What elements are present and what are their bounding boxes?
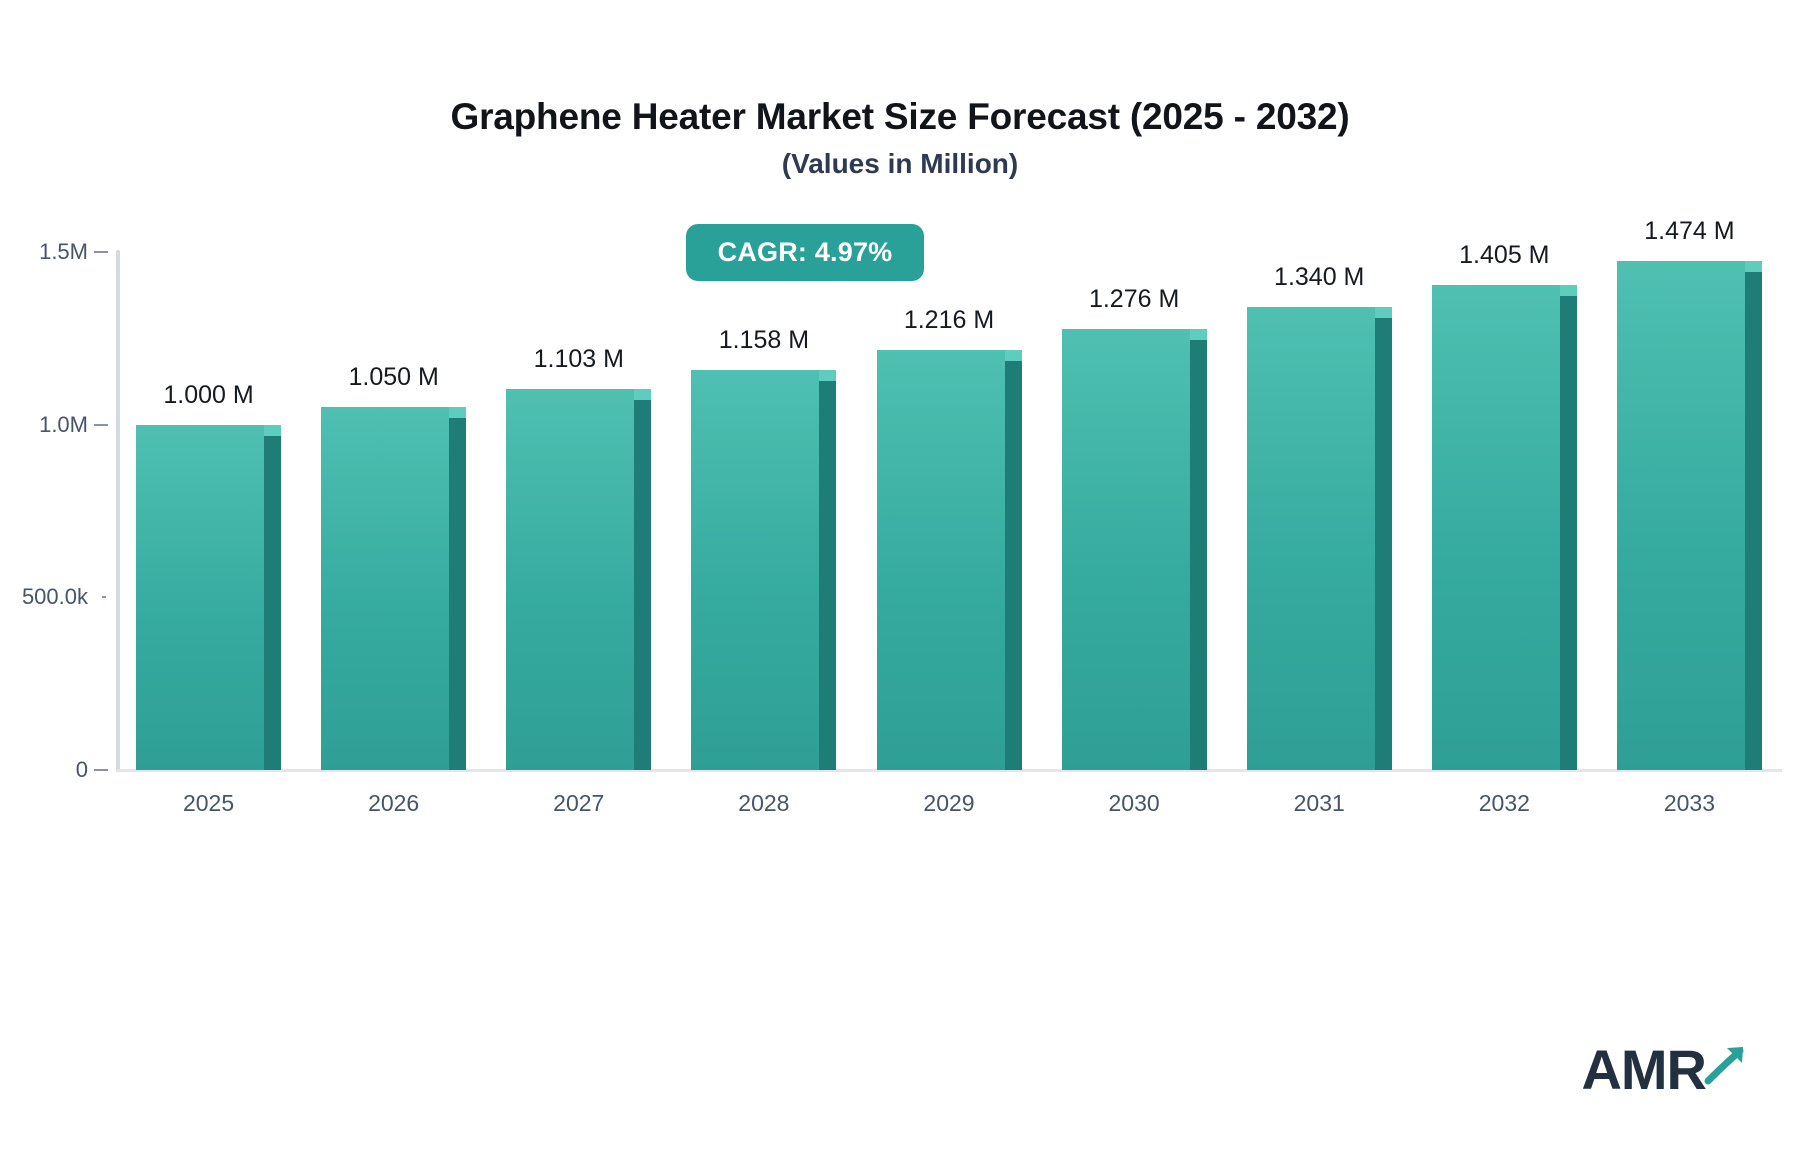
- arrow-up-right-icon: [1702, 1041, 1748, 1092]
- bar-top-face: [1745, 261, 1762, 272]
- bar-front-face: [1247, 307, 1375, 770]
- bar-front-face: [506, 389, 634, 770]
- bar-front-face: [1617, 261, 1745, 770]
- bar-side-face: [1560, 296, 1577, 770]
- x-axis-tick-label: 2030: [1044, 790, 1224, 817]
- bar-top-face: [1375, 307, 1392, 318]
- bar-side-face: [819, 381, 836, 770]
- chart-canvas: Graphene Heater Market Size Forecast (20…: [0, 0, 1800, 1156]
- bar-top-face: [1005, 350, 1022, 361]
- bar-front-face: [136, 425, 264, 770]
- bar-front-face: [1432, 285, 1560, 770]
- bar[interactable]: [1247, 307, 1375, 770]
- y-axis-tick-label: 0: [0, 757, 88, 783]
- bar-side-face: [449, 418, 466, 770]
- bar[interactable]: [321, 407, 449, 770]
- bar-top-face: [1560, 285, 1577, 296]
- bar-front-face: [877, 350, 1005, 770]
- chart-subtitle: (Values in Million): [0, 148, 1800, 180]
- bar-top-face: [449, 407, 466, 418]
- bar-side-face: [1375, 318, 1392, 770]
- x-axis-tick-label: 2031: [1229, 790, 1409, 817]
- bar-top-face: [819, 370, 836, 381]
- y-axis-tick-mark: [94, 769, 108, 771]
- bar[interactable]: [1617, 261, 1745, 770]
- bar-front-face: [691, 370, 819, 770]
- bar[interactable]: [506, 389, 634, 770]
- bar-side-face: [1745, 272, 1762, 770]
- bar[interactable]: [877, 350, 1005, 770]
- bar-side-face: [1005, 361, 1022, 770]
- bar-front-face: [321, 407, 449, 770]
- bar[interactable]: [1432, 285, 1560, 770]
- bar-top-face: [1190, 329, 1207, 340]
- x-axis-tick-label: 2027: [489, 790, 669, 817]
- bar[interactable]: [691, 370, 819, 770]
- y-axis-tick-mark: [102, 596, 106, 598]
- bar[interactable]: [1062, 329, 1190, 770]
- y-axis-tick-label: 500.0k: [0, 584, 88, 610]
- bar-side-face: [264, 436, 281, 770]
- bar-front-face: [1062, 329, 1190, 770]
- bar-top-face: [634, 389, 651, 400]
- bar[interactable]: [136, 425, 264, 770]
- y-axis-tick-label: 1.5M: [0, 239, 88, 265]
- y-axis-tick-mark: [94, 251, 108, 253]
- bar-value-label: 1.474 M: [1579, 217, 1799, 246]
- amr-logo-text: AMR: [1581, 1042, 1706, 1098]
- bar-side-face: [634, 400, 651, 770]
- y-axis-tick-mark: [94, 424, 108, 426]
- page-title: Graphene Heater Market Size Forecast (20…: [0, 96, 1800, 138]
- y-axis-tick-label: 1.0M: [0, 412, 88, 438]
- x-axis-tick-label: 2029: [859, 790, 1039, 817]
- x-axis-tick-label: 2033: [1599, 790, 1779, 817]
- x-axis-tick-label: 2025: [119, 790, 299, 817]
- y-axis: 1.5M1.0M500.0k0: [0, 0, 116, 1156]
- x-axis-tick-label: 2028: [674, 790, 854, 817]
- amr-logo: AMR: [1581, 1041, 1748, 1098]
- x-axis-tick-label: 2032: [1414, 790, 1594, 817]
- bar-top-face: [264, 425, 281, 436]
- x-axis-tick-label: 2026: [304, 790, 484, 817]
- bar-side-face: [1190, 340, 1207, 770]
